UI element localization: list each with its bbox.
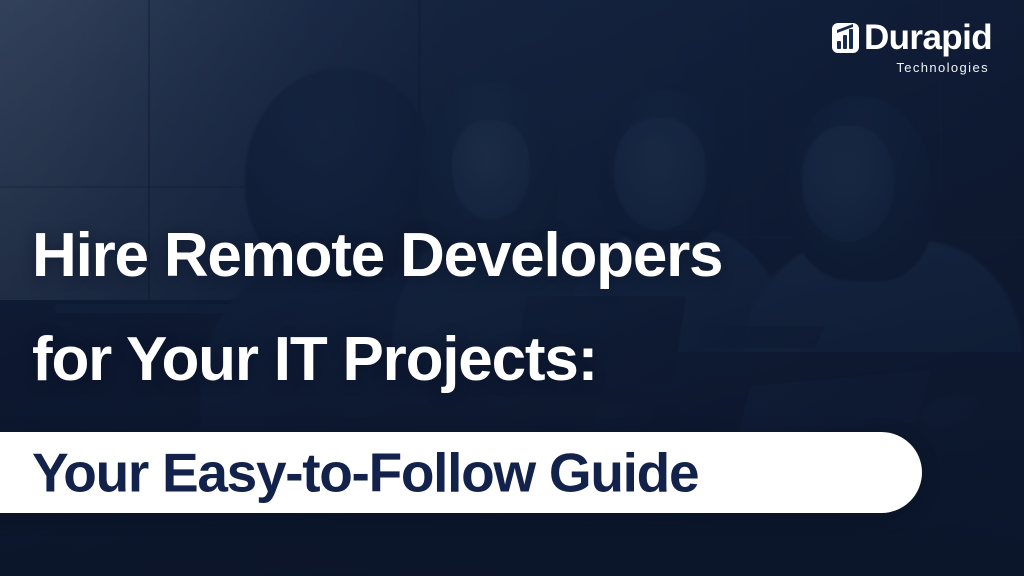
brand-tagline: Technologies bbox=[896, 60, 989, 75]
brand-wordmark: Durapid bbox=[864, 20, 992, 55]
brand-logo-row: Durapid bbox=[831, 20, 992, 55]
subtitle-pill: Your Easy-to-Follow Guide bbox=[0, 432, 922, 513]
subtitle-text: Your Easy-to-Follow Guide bbox=[32, 445, 698, 500]
headline-line-1: Hire Remote Developers bbox=[32, 224, 722, 288]
headline-line-2: for Your IT Projects: bbox=[32, 328, 722, 392]
durapid-d-barchart-icon bbox=[831, 21, 861, 55]
page-title: Hire Remote Developers for Your IT Proje… bbox=[32, 224, 722, 393]
brand-logo[interactable]: Durapid Technologies bbox=[831, 20, 992, 75]
blog-banner: Durapid Technologies Hire Remote Develop… bbox=[0, 0, 1024, 576]
